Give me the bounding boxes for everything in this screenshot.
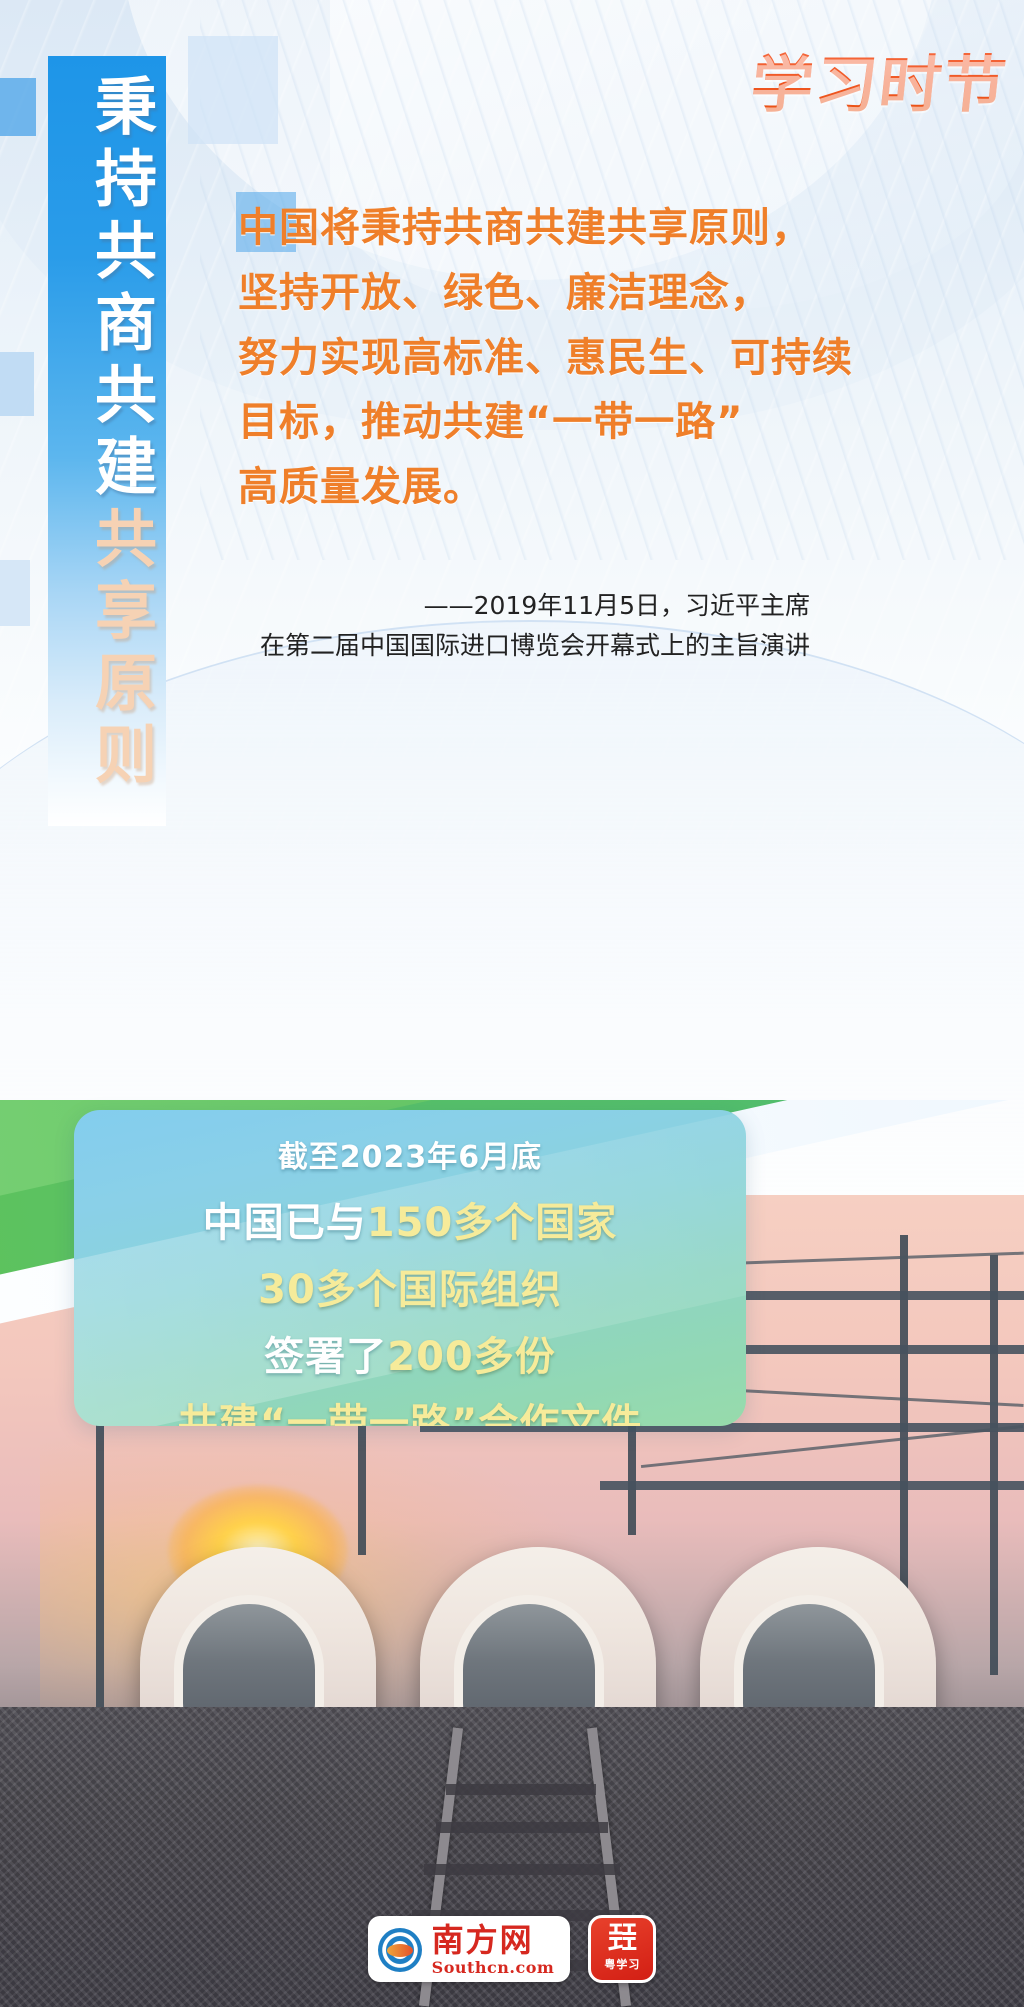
stat-line-countries-suffix: 多个国家 — [453, 1200, 617, 1246]
attribution-line: ——2019年11月5日，习近平主席 — [190, 586, 810, 626]
yuexuexi-glyph-icon: 㠭 — [607, 1924, 637, 1954]
background-block-left-3 — [0, 560, 30, 626]
stat-value-organizations: 30 — [258, 1267, 316, 1313]
stat-line-countries-prefix: 中国已与 — [203, 1200, 367, 1246]
vertical-title: 秉持共商共建共享原则 — [58, 74, 158, 854]
statistics-card-content: 截至2023年6月底 中国已与150多个国家 30多个国际组织 签署了200多份… — [74, 1110, 746, 1426]
rail-sleeper — [446, 1784, 596, 1795]
poster-root: 学习时节 秉持共商共建共享原则 中国将秉持共商共建共享原则， 坚持开放、绿色、廉… — [0, 0, 1024, 2007]
background-block-top — [188, 36, 278, 144]
stat-line-documents-suffix: 多份 — [474, 1334, 556, 1380]
stat-value-documents: 200 — [387, 1334, 474, 1380]
footer-logos: 南方网 Southcn.com 㠭 粤学习 — [0, 1915, 1024, 1983]
southcn-mark-icon — [378, 1928, 422, 1972]
stat-line-countries: 中国已与150多个国家 — [98, 1190, 722, 1248]
stat-value-countries: 150 — [367, 1200, 454, 1246]
background-block-left-1 — [0, 78, 36, 136]
rail-sleeper — [424, 1864, 620, 1875]
rail-sleeper — [436, 1822, 608, 1833]
quote-line: 中国将秉持共商共建共享原则， — [238, 196, 794, 261]
quote-line: 目标，推动共建“一带一路” — [238, 390, 794, 455]
statistics-card: 截至2023年6月底 中国已与150多个国家 30多个国际组织 签署了200多份… — [74, 1110, 746, 1426]
attribution-line: 在第二届中国国际进口博览会开幕式上的主旨演讲 — [190, 626, 810, 666]
quote-line: 坚持开放、绿色、廉洁理念， — [238, 261, 794, 326]
stat-line-organizations: 30多个国际组织 — [98, 1257, 722, 1315]
background-block-left-2 — [0, 352, 34, 416]
southcn-logo-en: Southcn.com — [432, 1960, 555, 1976]
quote-line: 努力实现高标准、惠民生、可持续 — [238, 326, 794, 391]
quote-line: 高质量发展。 — [238, 455, 794, 520]
vertical-title-head: 秉持共商共建 — [84, 74, 157, 506]
stat-line-organizations-suffix: 多个国际组织 — [316, 1267, 562, 1313]
southcn-logo-cn: 南方网 — [432, 1924, 555, 1956]
yuexuexi-app-icon[interactable]: 㠭 粤学习 — [588, 1915, 656, 1983]
vertical-title-tail: 共享原则 — [84, 506, 157, 794]
southcn-logo-text: 南方网 Southcn.com — [432, 1924, 555, 1976]
brand-logo-xuexishijie: 学习时节 — [747, 34, 1012, 124]
stat-line-documents: 签署了200多份 — [98, 1324, 722, 1382]
stat-line-initiative: 共建“一带一路”合作文件 — [98, 1391, 722, 1426]
southcn-logo[interactable]: 南方网 Southcn.com — [368, 1916, 571, 1982]
quote-attribution: ——2019年11月5日，习近平主席 在第二届中国国际进口博览会开幕式上的主旨演… — [190, 586, 810, 665]
stat-line-documents-prefix: 签署了 — [264, 1334, 387, 1380]
stat-heading: 截至2023年6月底 — [98, 1132, 722, 1176]
quote-block: 中国将秉持共商共建共享原则， 坚持开放、绿色、廉洁理念， 努力实现高标准、惠民生… — [238, 196, 794, 520]
yuexuexi-label: 粤学习 — [604, 1956, 640, 1972]
